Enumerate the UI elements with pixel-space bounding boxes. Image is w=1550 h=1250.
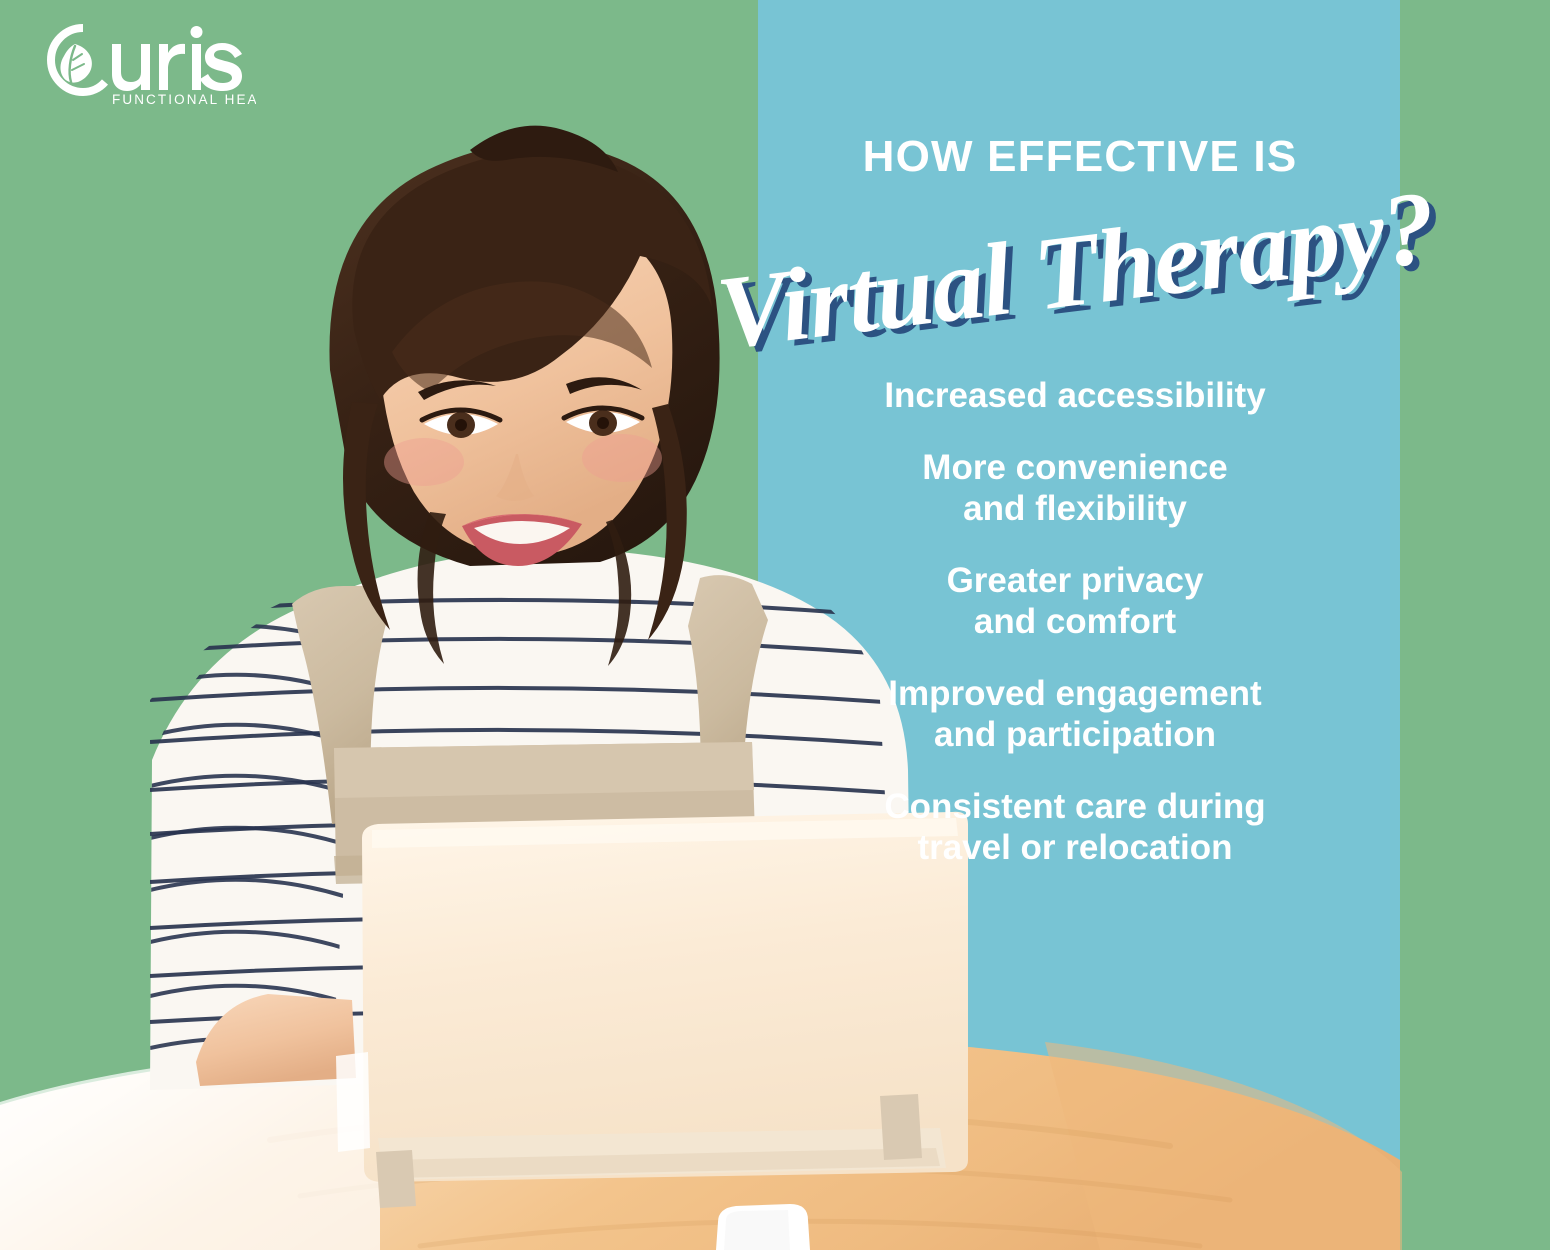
benefit-line: Increased accessibility xyxy=(790,376,1360,417)
benefit-item: More convenience and flexibility xyxy=(790,448,1360,530)
benefit-line: Greater privacy xyxy=(790,561,1360,602)
benefit-line: Consistent care during xyxy=(790,787,1360,828)
benefit-item: Consistent care during travel or relocat… xyxy=(790,787,1360,869)
benefit-item: Increased accessibility xyxy=(790,376,1360,417)
benefits-list: Increased accessibility More convenience… xyxy=(790,376,1360,868)
benefit-item: Improved engagement and participation xyxy=(790,674,1360,756)
benefit-line: More convenience xyxy=(790,448,1360,489)
headline-kicker: HOW EFFECTIVE IS xyxy=(760,134,1400,180)
leaf-in-circle-icon xyxy=(51,28,105,92)
svg-text:FUNCTIONAL HEALTH: FUNCTIONAL HEALTH xyxy=(112,92,256,106)
benefit-item: Greater privacy and comfort xyxy=(790,561,1360,643)
benefit-line: and participation xyxy=(790,715,1360,756)
benefit-line: Improved engagement xyxy=(790,674,1360,715)
brand-logo[interactable]: FUNCTIONAL HEALTH xyxy=(26,22,256,106)
poster-canvas: FUNCTIONAL HEALTH HOW EFFECTIVE IS Virtu… xyxy=(0,0,1550,1250)
benefit-line: and flexibility xyxy=(790,489,1360,530)
benefit-line: travel or relocation xyxy=(790,828,1360,869)
benefit-line: and comfort xyxy=(790,602,1360,643)
